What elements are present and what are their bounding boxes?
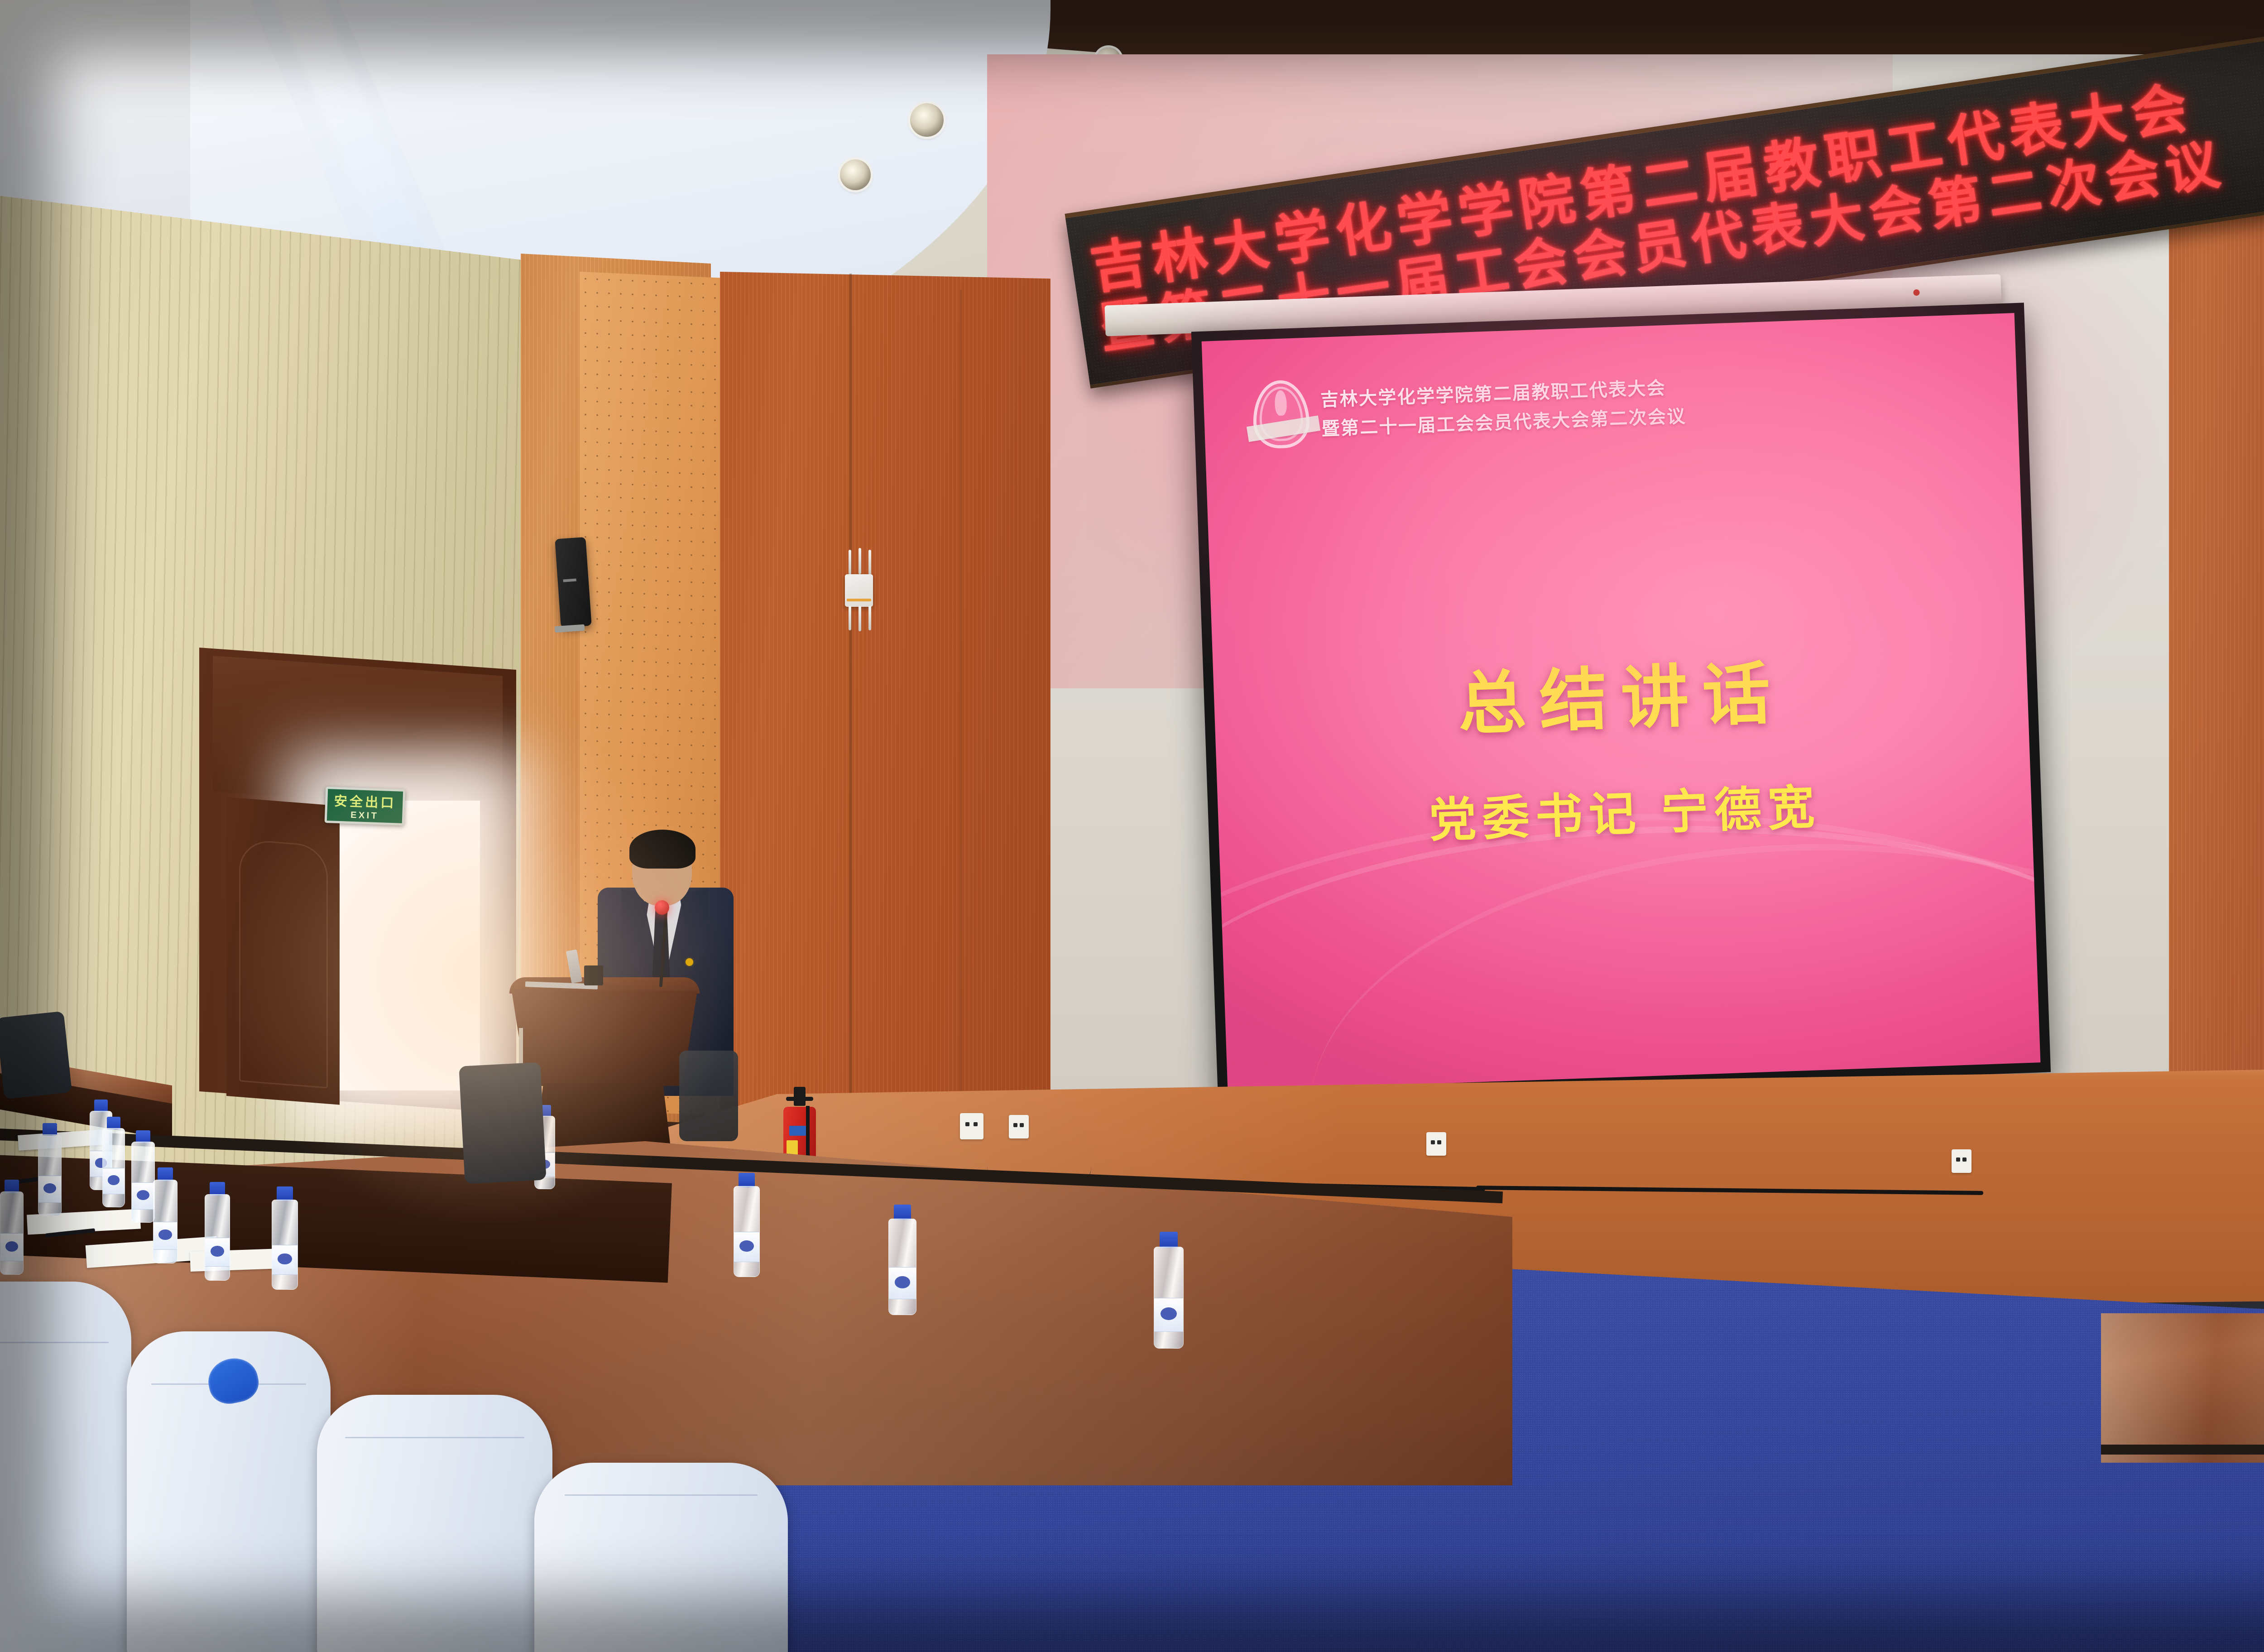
chair-cover-badge-2: [204, 1354, 262, 1408]
speaker-lapel-pin: [686, 958, 693, 966]
bottle-cap-5: [136, 1130, 150, 1143]
projection-screen: 吉林大学化学学院第二届教职工代表大会 暨第二十一届工会会员代表大会第二次会议 总…: [1191, 303, 2051, 1101]
table-gloss-right: [2101, 1313, 2264, 1463]
exit-sign-english: EXIT: [350, 810, 379, 821]
bottle-body-9: [734, 1186, 760, 1277]
chair-black-stage-2[interactable]: [679, 1051, 738, 1141]
wall-seam-1: [849, 274, 852, 1125]
table-right-edge: [2101, 1445, 2264, 1455]
chair-cover-3[interactable]: [317, 1395, 552, 1652]
wall-outlet-4[interactable]: [1952, 1149, 1971, 1173]
bottle-cap-11: [1160, 1232, 1178, 1248]
exit-sign-chinese: 安全出口: [334, 790, 396, 812]
exit-sign: 安全出口 EXIT: [325, 787, 406, 826]
slide-title: 总结讲话: [1213, 630, 2029, 757]
wifi-antenna-6: [868, 606, 871, 630]
bottle-body-1: [0, 1191, 24, 1275]
extinguisher-handle-1: [786, 1097, 813, 1101]
housing-brand-dot: [1913, 289, 1919, 296]
bottle-label-6: [153, 1222, 177, 1250]
wifi-ap-body: [845, 574, 873, 607]
water-bottle-4[interactable]: [102, 1117, 125, 1207]
speaker-slot: [563, 579, 576, 582]
bottle-label-7: [205, 1238, 230, 1267]
chair-cover-1[interactable]: [0, 1282, 131, 1652]
door-leaf: [226, 797, 340, 1105]
bottle-body-10: [888, 1219, 916, 1315]
table-right: [2101, 1313, 2264, 1463]
bottle-label-11: [1154, 1298, 1183, 1332]
bottle-body-5: [131, 1142, 155, 1223]
water-bottle-5[interactable]: [131, 1130, 155, 1223]
slide-header: 吉林大学化学学院第二届教职工代表大会 暨第二十一届工会会员代表大会第二次会议: [1252, 366, 1687, 449]
door-leaf-panel: [239, 839, 328, 1088]
water-bottle-2[interactable]: [38, 1123, 62, 1216]
chair-cover-2[interactable]: [127, 1331, 331, 1652]
wifi-antenna-2: [859, 548, 861, 574]
water-bottle-8[interactable]: [272, 1186, 298, 1290]
chair-cover-seam-3: [345, 1437, 524, 1438]
speaker-hair: [629, 830, 696, 869]
wifi-antenna-4: [849, 606, 851, 630]
wifi-antenna-3: [868, 550, 871, 575]
wifi-ap-stripe: [847, 599, 872, 601]
bottle-label-8: [272, 1245, 297, 1275]
wifi-antenna-1: [849, 550, 851, 575]
wifi-antenna-5: [859, 606, 861, 631]
downlight-icon-4: [840, 159, 871, 190]
water-bottle-9[interactable]: [734, 1173, 760, 1277]
extinguisher-neck-1: [794, 1087, 806, 1106]
microphone-head-icon: [655, 900, 669, 915]
wood-grain-texture-2: [720, 272, 1050, 1130]
bottle-label-1: [0, 1233, 23, 1261]
bottle-label-10: [889, 1267, 916, 1300]
jilin-university-emblem-icon: [1252, 379, 1310, 449]
bottle-label-4: [103, 1168, 125, 1195]
chair-black-back[interactable]: [0, 1011, 72, 1100]
wall-wood-red: [720, 272, 1050, 1130]
bottle-body-4: [102, 1128, 125, 1207]
extinguisher-label-blue-1: [789, 1126, 806, 1136]
slide-header-text: 吉林大学化学学院第二届教职工代表大会 暨第二十一届工会会员代表大会第二次会议: [1320, 373, 1686, 441]
conference-hall-photo: 吉林大学化学学院第二届教职工代表大会 暨第二十一届工会会员代表大会第二次会议 吉…: [0, 0, 2264, 1652]
bottle-cap-9: [739, 1173, 755, 1187]
water-bottle-7[interactable]: [205, 1182, 230, 1281]
doorway-daylight: [335, 801, 480, 1090]
bottle-label-9: [734, 1232, 759, 1263]
bottle-cap-3: [94, 1100, 108, 1112]
chair-cover-seam-1: [0, 1342, 109, 1343]
chair-black-stage[interactable]: [459, 1062, 546, 1184]
podium-base: [535, 1083, 671, 1151]
water-bottle-11[interactable]: [1154, 1232, 1184, 1349]
bottle-body-8: [272, 1200, 298, 1290]
projection-screen-surface: 吉林大学化学学院第二届教职工代表大会 暨第二十一届工会会员代表大会第二次会议 总…: [1202, 313, 2041, 1091]
bottle-label-5: [132, 1182, 154, 1210]
bottle-body-11: [1154, 1247, 1184, 1349]
water-bottle-1[interactable]: [0, 1180, 24, 1275]
bottle-body-6: [153, 1180, 177, 1263]
wall-outlet-3[interactable]: [1426, 1132, 1446, 1156]
water-bottle-10[interactable]: [888, 1205, 916, 1315]
bottle-cap-2: [43, 1123, 57, 1136]
wall-outlet-1[interactable]: [960, 1113, 983, 1139]
downlight-icon-2: [910, 103, 944, 137]
wall-seam-2: [960, 290, 962, 1119]
podium-control-box[interactable]: [584, 965, 603, 985]
wall-outlet-2[interactable]: [1009, 1115, 1029, 1138]
bottle-body-2: [38, 1134, 62, 1216]
chair-cover-4[interactable]: [534, 1463, 788, 1652]
water-bottle-6[interactable]: [153, 1167, 177, 1263]
bottle-body-7: [205, 1194, 230, 1281]
bottle-cap-8: [277, 1186, 293, 1201]
wall-speaker-icon: [555, 537, 592, 628]
bottle-cap-4: [107, 1117, 120, 1129]
bottle-cap-7: [210, 1182, 225, 1196]
bottle-label-2: [38, 1176, 61, 1203]
bottle-cap-6: [158, 1167, 173, 1181]
chair-cover-seam-4: [565, 1494, 758, 1496]
bottle-cap-10: [894, 1205, 911, 1220]
